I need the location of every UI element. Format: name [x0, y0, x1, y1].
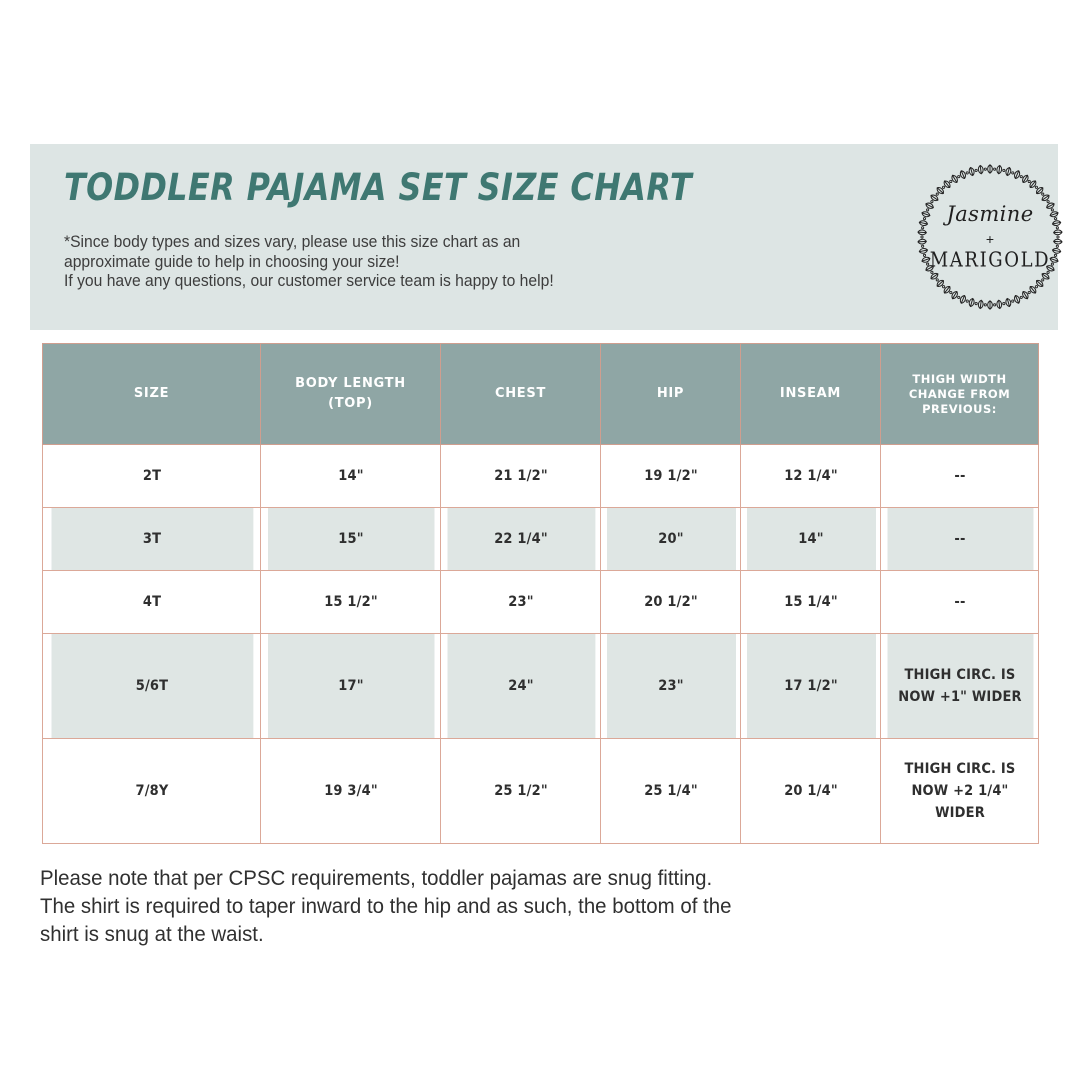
- cell-hip: 23": [605, 634, 735, 739]
- page-title: TODDLER PAJAMA SET SIZE CHART: [64, 166, 692, 209]
- table-row: 2T 14" 21 1/2" 19 1/2" 12 1/4" --: [43, 445, 1039, 508]
- column-header-body-length-label: BODY LENGTH: [295, 376, 406, 391]
- table-header: SIZE BODY LENGTH (TOP) CHEST HIP INSEAM …: [43, 344, 1039, 445]
- column-header-thigh-width-line-1: THIGH WIDTH: [912, 372, 1006, 386]
- column-header-hip-label: HIP: [657, 386, 684, 401]
- table-body: 2T 14" 21 1/2" 19 1/2" 12 1/4" -- 3T 15"…: [43, 445, 1039, 844]
- cell-thigh-width: THIGH CIRC. IS NOW +2 1/4" WIDER: [886, 739, 1033, 844]
- cell-hip: 19 1/2": [605, 445, 735, 508]
- table-row: 3T 15" 22 1/4" 20" 14" --: [43, 508, 1039, 571]
- cell-thigh-width-line-2: NOW +2 1/4": [911, 783, 1008, 799]
- table-row: 5/6T 17" 24" 23" 17 1/2" THIGH CIRC. IS …: [43, 634, 1039, 739]
- cell-body-length: 14": [267, 445, 434, 508]
- cell-thigh-width-line-3: WIDER: [935, 805, 985, 821]
- banner-disclaimer-line-1: *Since body types and sizes vary, please…: [64, 233, 634, 253]
- footer-disclaimer-line-1: Please note that per CPSC requirements, …: [40, 864, 895, 892]
- cell-inseam: 17 1/2": [745, 634, 875, 739]
- banner-disclaimer: *Since body types and sizes vary, please…: [64, 233, 634, 292]
- cell-hip: 20 1/2": [605, 571, 735, 634]
- cell-size: 4T: [50, 571, 253, 634]
- size-chart-page: TODDLER PAJAMA SET SIZE CHART *Since bod…: [0, 0, 1080, 1080]
- cell-chest: 25 1/2": [446, 739, 595, 844]
- cell-size: 3T: [50, 508, 253, 571]
- cell-hip: 20": [605, 508, 735, 571]
- cell-thigh-width: --: [886, 508, 1033, 571]
- cell-inseam: 14": [745, 508, 875, 571]
- cell-thigh-width-line-2: NOW +1" WIDER: [898, 689, 1022, 705]
- cell-inseam: 15 1/4": [745, 571, 875, 634]
- table-row: 7/8Y 19 3/4" 25 1/2" 25 1/4" 20 1/4" THI…: [43, 739, 1039, 844]
- leaf-wreath-icon: [908, 155, 1072, 319]
- cell-thigh-width-line-1: THIGH CIRC. IS: [904, 667, 1015, 683]
- column-header-chest-label: CHEST: [495, 386, 546, 401]
- cell-thigh-width: --: [886, 571, 1033, 634]
- column-header-inseam-label: INSEAM: [780, 386, 841, 401]
- size-chart-table: SIZE BODY LENGTH (TOP) CHEST HIP INSEAM …: [42, 343, 1039, 844]
- cell-chest: 24": [446, 634, 595, 739]
- table-row: 4T 15 1/2" 23" 20 1/2" 15 1/4" --: [43, 571, 1039, 634]
- footer-disclaimer-line-2: The shirt is required to taper inward to…: [40, 892, 895, 920]
- cell-thigh-width: --: [886, 445, 1033, 508]
- cell-chest: 21 1/2": [446, 445, 595, 508]
- cell-body-length: 15 1/2": [267, 571, 434, 634]
- cell-size: 7/8Y: [50, 739, 253, 844]
- brand-logo: Jasmine + MARIGOLD: [908, 155, 1072, 319]
- header-banner: TODDLER PAJAMA SET SIZE CHART *Since bod…: [30, 144, 1058, 330]
- column-header-inseam: INSEAM: [741, 344, 881, 445]
- cell-chest: 23": [446, 571, 595, 634]
- column-header-body-length: BODY LENGTH (TOP): [261, 344, 441, 445]
- column-header-body-length-sublabel: (TOP): [328, 396, 373, 411]
- column-header-thigh-width: THIGH WIDTH CHANGE FROM PREVIOUS:: [881, 344, 1039, 445]
- footer-disclaimer-line-3: shirt is snug at the waist.: [40, 920, 895, 948]
- table-header-row: SIZE BODY LENGTH (TOP) CHEST HIP INSEAM …: [43, 344, 1039, 445]
- cell-chest: 22 1/4": [446, 508, 595, 571]
- cell-hip: 25 1/4": [605, 739, 735, 844]
- column-header-hip: HIP: [601, 344, 741, 445]
- cell-size: 2T: [50, 445, 253, 508]
- cell-size: 5/6T: [50, 634, 253, 739]
- column-header-size-label: SIZE: [134, 386, 169, 401]
- banner-disclaimer-line-2: approximate guide to help in choosing yo…: [64, 253, 634, 273]
- cell-inseam: 12 1/4": [745, 445, 875, 508]
- cell-body-length: 15": [267, 508, 434, 571]
- cell-body-length: 17": [267, 634, 434, 739]
- banner-disclaimer-line-3: If you have any questions, our customer …: [64, 272, 634, 292]
- cell-thigh-width: THIGH CIRC. IS NOW +1" WIDER: [886, 634, 1033, 739]
- column-header-thigh-width-line-2: CHANGE FROM: [909, 387, 1010, 401]
- column-header-size: SIZE: [43, 344, 261, 445]
- column-header-chest: CHEST: [441, 344, 601, 445]
- footer-disclaimer: Please note that per CPSC requirements, …: [40, 864, 895, 948]
- column-header-thigh-width-line-3: PREVIOUS:: [922, 402, 997, 416]
- cell-inseam: 20 1/4": [745, 739, 875, 844]
- cell-thigh-width-line-1: THIGH CIRC. IS: [904, 761, 1015, 777]
- cell-body-length: 19 3/4": [267, 739, 434, 844]
